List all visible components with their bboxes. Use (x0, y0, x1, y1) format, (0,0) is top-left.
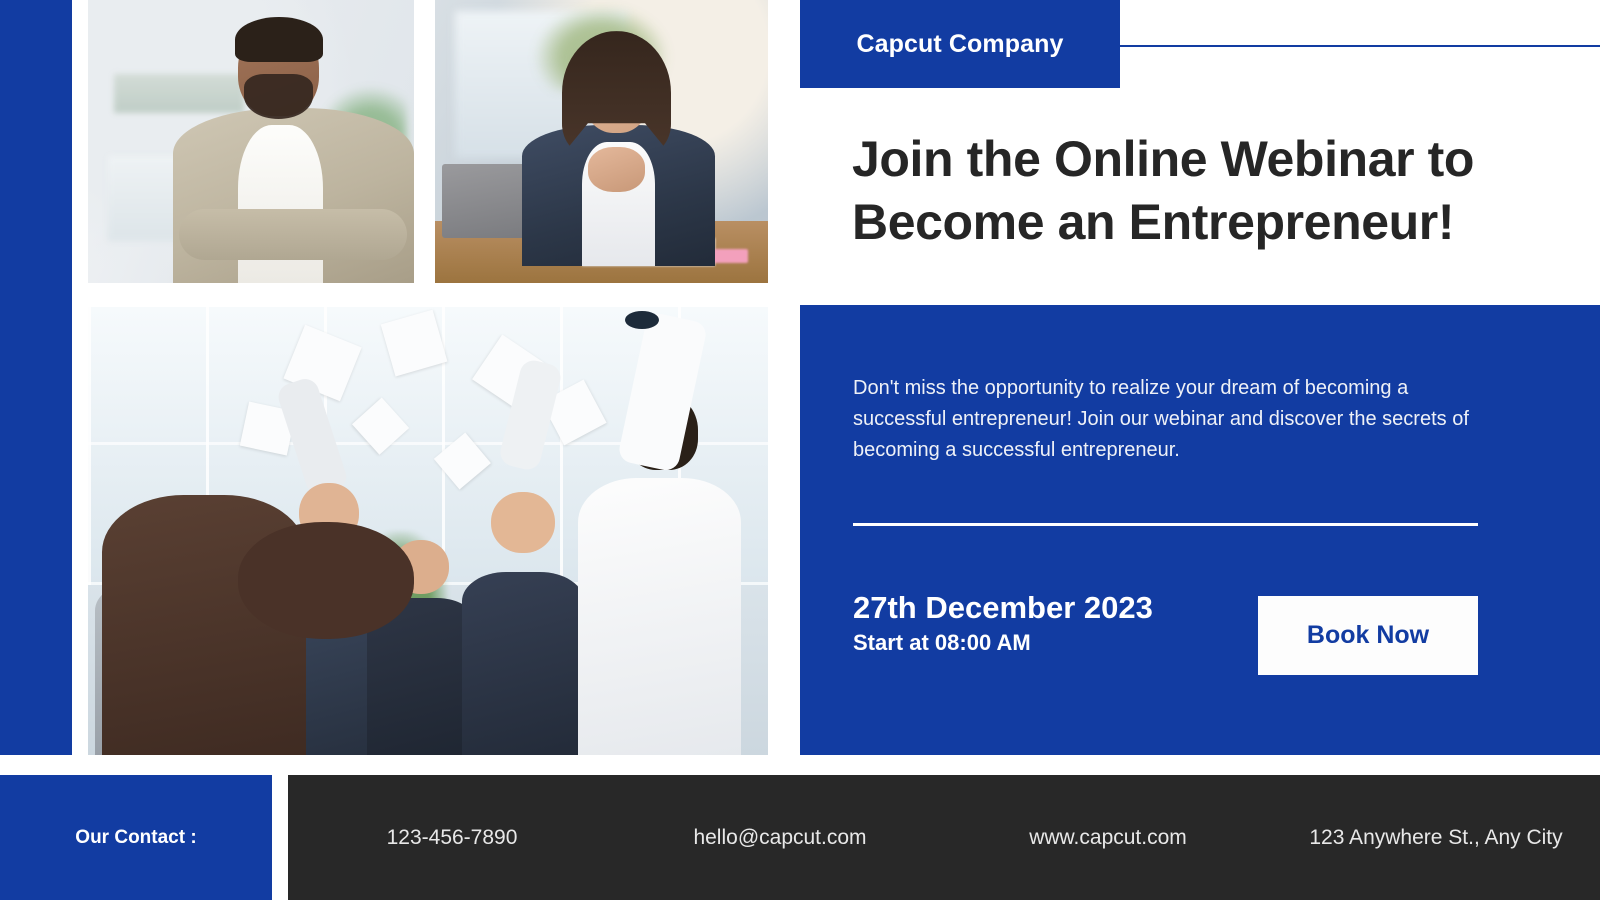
info-divider-line (853, 523, 1478, 526)
man-beard (244, 74, 312, 119)
contact-label: Our Contact : (75, 827, 196, 849)
info-panel: Don't miss the opportunity to realize yo… (800, 305, 1600, 755)
webinar-description: Don't miss the opportunity to realize yo… (853, 373, 1493, 466)
contact-label-block: Our Contact : (0, 775, 272, 900)
team-member (462, 486, 584, 755)
contact-bar: 123-456-7890 hello@capcut.com www.capcut… (288, 775, 1600, 900)
book-now-button[interactable]: Book Now (1258, 596, 1478, 675)
brand-name: Capcut Company (857, 30, 1064, 59)
foreground-person-head (238, 522, 415, 638)
contact-email[interactable]: hello@capcut.com (616, 826, 944, 850)
woman-hands (588, 147, 645, 192)
brand-badge: Capcut Company (800, 0, 1120, 88)
photo-team-celebrating (88, 307, 768, 755)
event-datetime: 27th December 2023 Start at 08:00 AM (853, 590, 1153, 656)
header-divider-line (1120, 45, 1600, 47)
event-time: Start at 08:00 AM (853, 630, 1153, 656)
photo-businesswoman-laptop (435, 0, 768, 283)
contact-address: 123 Anywhere St., Any City (1272, 826, 1600, 850)
contact-phone[interactable]: 123-456-7890 (288, 826, 616, 850)
man-hair (235, 17, 323, 62)
page-title: Join the Online Webinar to Become an Ent… (852, 128, 1552, 254)
photo-businessman-portrait (88, 0, 414, 283)
contact-website[interactable]: www.capcut.com (944, 826, 1272, 850)
left-accent-stripe (0, 0, 72, 755)
office-shelf-decor (114, 74, 244, 114)
man-crossed-arms (179, 209, 407, 260)
event-date: 27th December 2023 (853, 590, 1153, 626)
webinar-poster: Capcut Company Join the Online Webinar t… (0, 0, 1600, 900)
